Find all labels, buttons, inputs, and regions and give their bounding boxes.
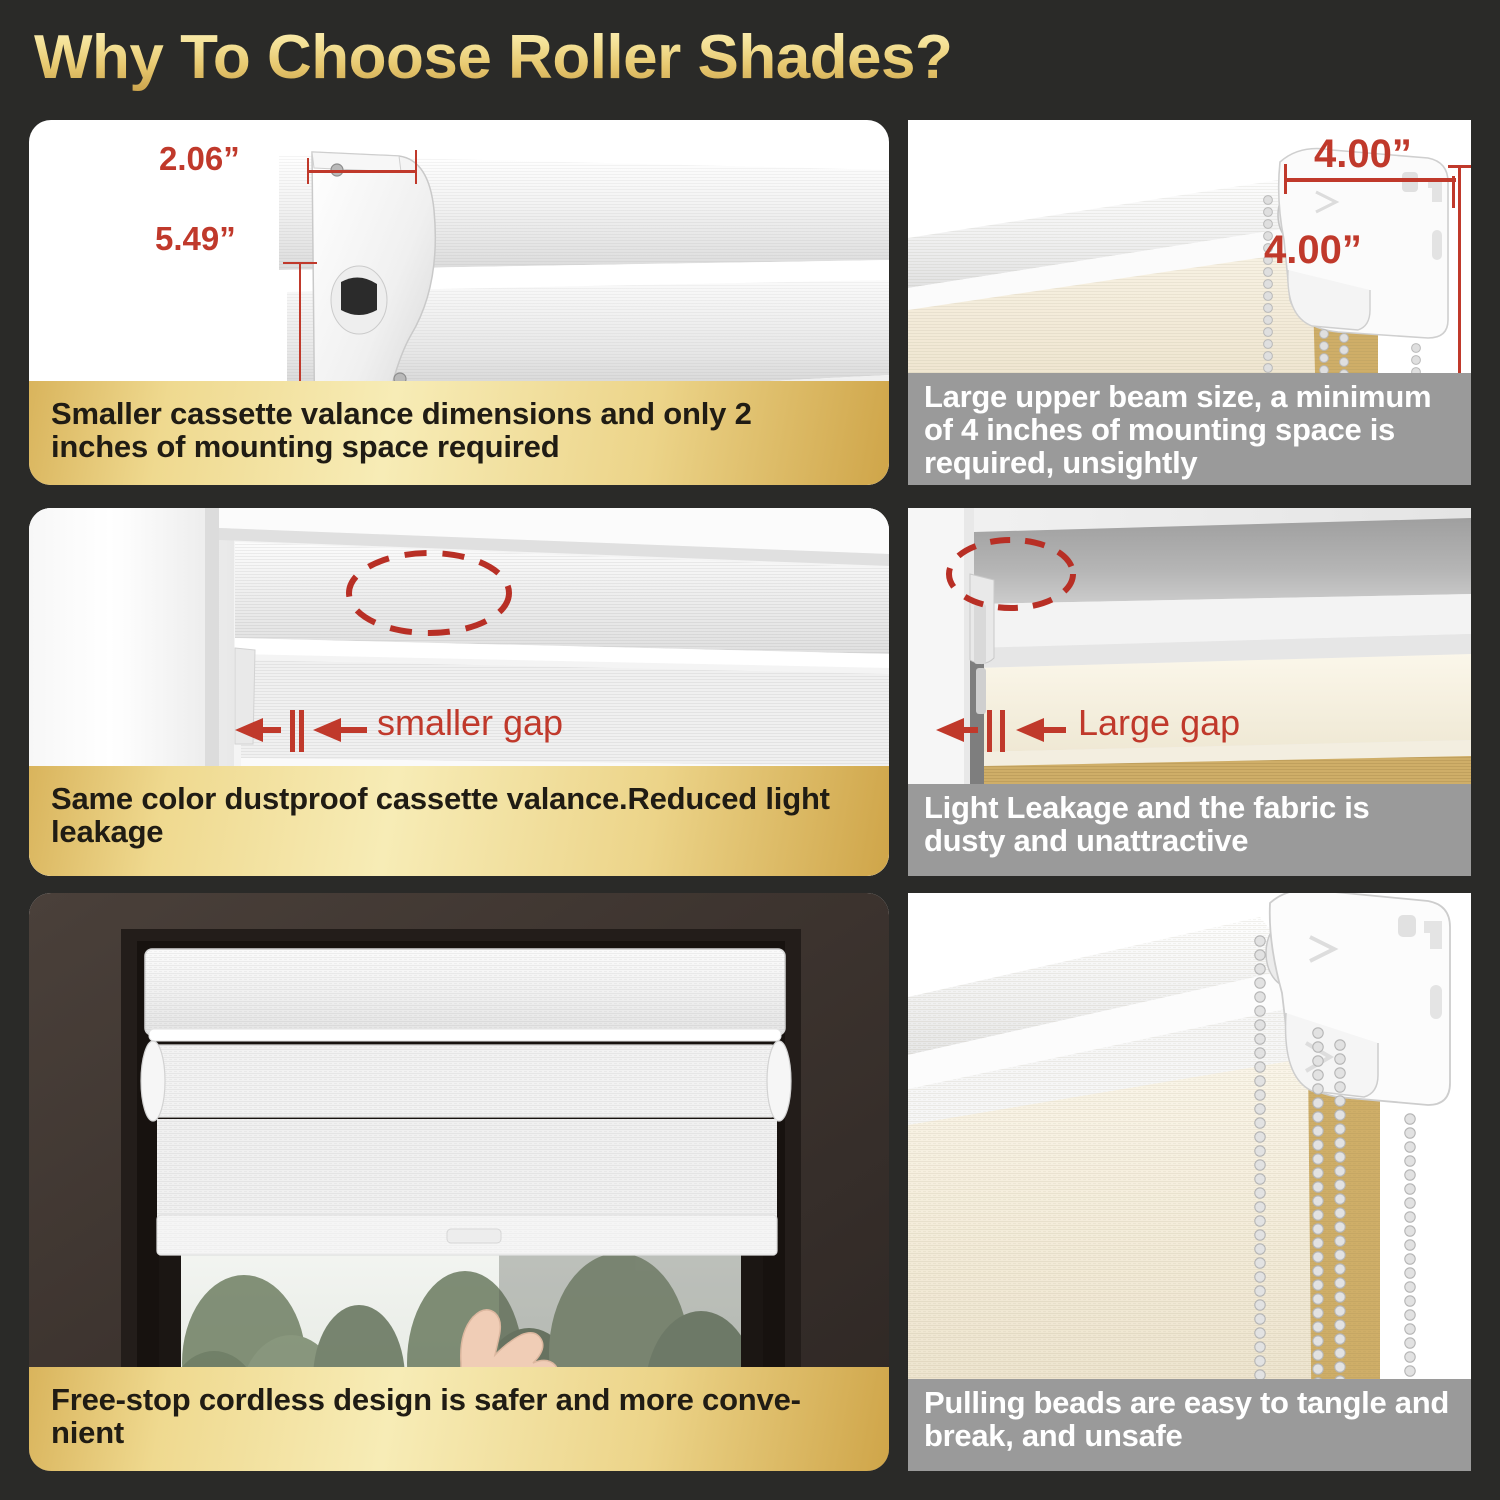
panel-cassette-dimensions: 5.49” 2.06” Smaller cassette valance dim… [29,120,889,485]
beam-width-dimension-line [1284,178,1456,182]
caption-text: Same color dustproof cassette valance.Re… [51,782,851,848]
gap-callout-group: smaller gap [229,706,379,754]
gap-arrows-icon [930,706,1070,754]
caption-text: Pulling beads are easy to tangle and bre… [924,1387,1455,1453]
caption-bar-cassette-dimensions: Smaller cassette valance dimensions and … [29,381,889,485]
height-dimension-label: 5.49” [155,220,236,258]
beam-width-tick-right [1452,176,1455,208]
gap-arrows-icon [229,706,379,754]
gap-callout-group: Large gap [930,706,1070,754]
gap-callout-label: smaller gap [377,702,563,744]
gap-highlight-ellipse [329,543,529,643]
panel-large-upper-beam: 4.00” 4.00” Large upper beam size, a min… [908,120,1471,485]
caption-bar-pulling-beads: Pulling beads are easy to tangle and bre… [908,1379,1471,1471]
page-title: Why To Choose Roller Shades? [34,22,952,93]
caption-bar-light-leakage: Light Leakage and the fabric is dusty an… [908,784,1471,876]
caption-bar-cordless-design: Free-stop cordless design is safer and m… [29,1367,889,1471]
panel-dustproof-cassette: smaller gap Same color dustproof cassett… [29,508,889,876]
beam-width-tick-left [1284,164,1287,194]
gap-callout-label: Large gap [1078,702,1240,744]
caption-text: Light Leakage and the fabric is dusty an… [924,792,1455,858]
panel-cordless-design: Free-stop cordless design is safer and m… [29,893,889,1471]
panel-pulling-beads: Pulling beads are easy to tangle and bre… [908,893,1471,1471]
caption-text: Large upper beam size, a minimum of 4 in… [924,381,1455,480]
beam-height-tick-top [1448,165,1471,168]
panel-light-leakage: Large gap Light Leakage and the fabric i… [908,508,1471,876]
beam-height-dimension-label: 4.00” [1264,228,1362,273]
caption-bar-large-upper-beam: Large upper beam size, a minimum of 4 in… [908,373,1471,485]
width-dimension-tick-left [307,158,309,184]
caption-bar-dustproof-cassette: Same color dustproof cassette valance.Re… [29,766,889,876]
height-dimension-tick-top [283,262,317,264]
caption-text: Smaller cassette valance dimensions and … [51,397,851,463]
infographic-page: Why To Choose Roller Shades? [0,0,1500,1500]
caption-text: Free-stop cordless design is safer and m… [51,1383,857,1449]
width-dimension-tick-right [415,150,417,184]
gap-highlight-ellipse [926,526,1096,621]
width-dimension-label: 2.06” [159,140,240,178]
beam-width-dimension-label: 4.00” [1314,132,1412,177]
width-dimension-line [307,170,417,173]
